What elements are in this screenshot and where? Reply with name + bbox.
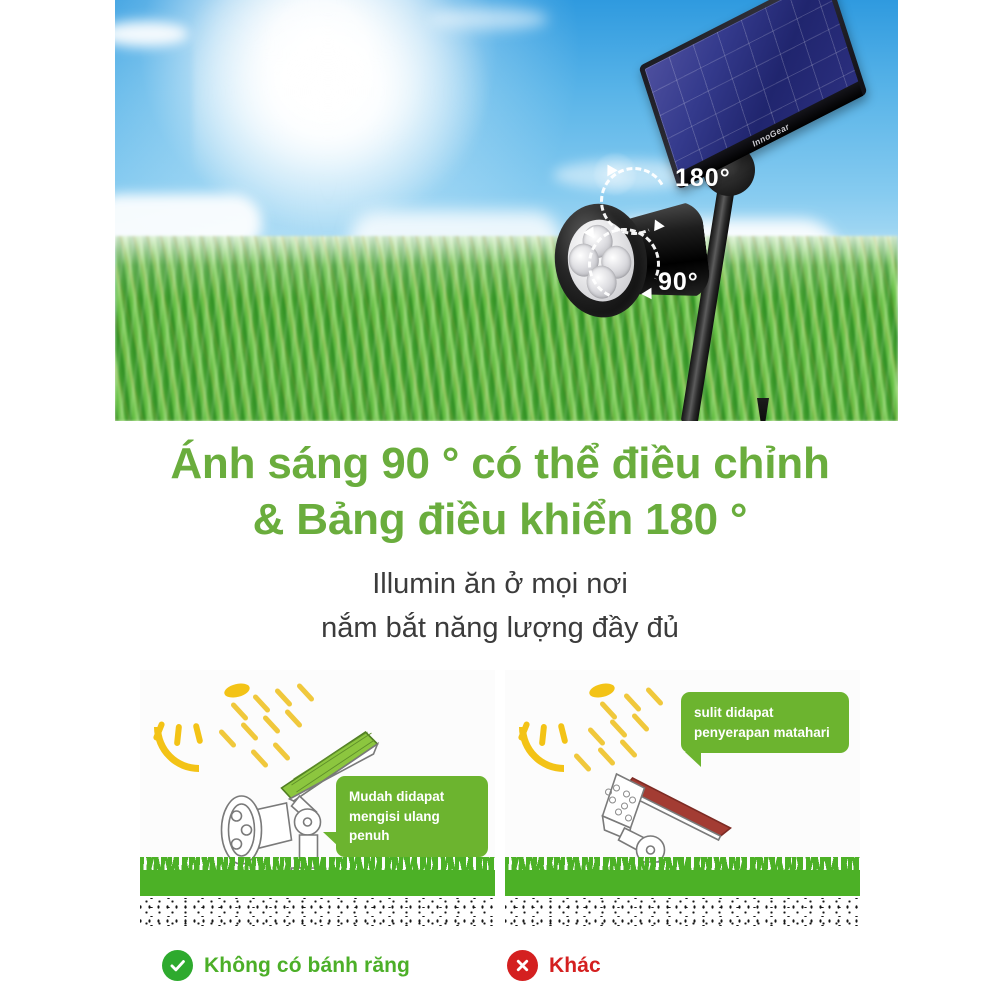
soil-band <box>140 896 495 928</box>
verdict-good: Không có bánh răng <box>162 950 410 981</box>
verdict-bad-label: Khác <box>549 954 601 978</box>
verdict-row: Không có bánh răng Khác <box>140 950 860 994</box>
check-icon <box>162 950 193 981</box>
callout-tail <box>685 752 701 767</box>
sunbeam-group <box>222 686 312 765</box>
callout-bad-line-2: penyerapan matahari <box>694 723 836 743</box>
hero-product-photo: InnoGear <box>115 0 898 421</box>
product-infographic: InnoGear 180° 90° <box>0 0 1000 1000</box>
subheadline-line-1: Illumin ăn ở mọi nơi <box>0 562 1000 606</box>
sunbeam-group <box>577 690 661 769</box>
callout-bad: sulit didapat penyerapan matahari <box>681 692 849 753</box>
callout-good: Mudah didapat mengisi ulang penuh <box>336 776 488 857</box>
verdict-good-label: Không có bánh răng <box>204 954 410 978</box>
grass-band <box>505 870 860 896</box>
headline: Ánh sáng 90 ° có thể điều chỉnh & Bảng đ… <box>0 436 1000 549</box>
subheadline-line-2: nắm bắt năng lượng đầy đủ <box>0 606 1000 650</box>
subheadline: Illumin ăn ở mọi nơi nắm bắt năng lượng … <box>0 562 1000 650</box>
comparison-panels: Mudah didapat mengisi ulang penuh <box>140 670 860 928</box>
annotation-180: 180° <box>675 164 731 193</box>
panel-good: Mudah didapat mengisi ulang penuh <box>140 670 495 928</box>
callout-good-line-1: Mudah didapat <box>349 787 475 807</box>
verdict-bad: Khác <box>507 950 601 981</box>
soil-band <box>505 896 860 928</box>
callout-tail <box>323 832 339 847</box>
headline-line-1: Ánh sáng 90 ° có thể điều chỉnh <box>170 439 829 488</box>
solar-spotlight-product: InnoGear <box>525 18 845 418</box>
annotation-90: 90° <box>658 268 699 297</box>
stake-tip <box>757 398 769 421</box>
cross-icon <box>507 950 538 981</box>
callout-bad-line-1: sulit didapat <box>694 703 836 723</box>
callout-good-line-2: mengisi ulang penuh <box>349 807 475 846</box>
panel-bad: sulit didapat penyerapan matahari <box>505 670 860 928</box>
grass-band <box>140 870 495 896</box>
headline-line-2: & Bảng điều khiển 180 ° <box>0 492 1000 548</box>
